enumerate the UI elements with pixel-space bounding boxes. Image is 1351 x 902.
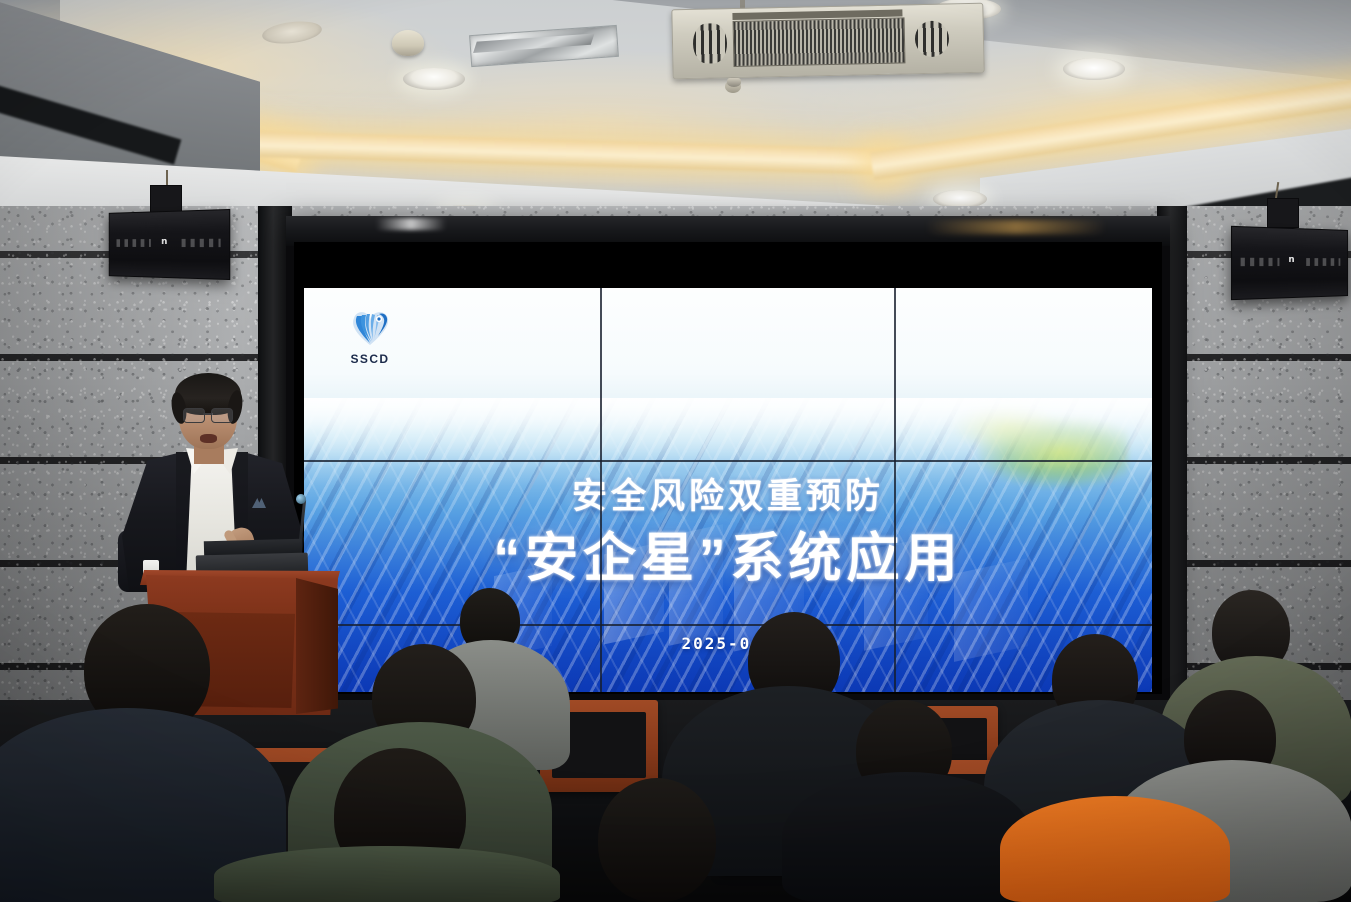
- podium-side-panel: [296, 578, 338, 714]
- audience-safety-vest: [1000, 796, 1230, 902]
- sprinkler-icon: [727, 78, 741, 87]
- audience-body: [214, 846, 560, 902]
- presentation-slide: SSCD 安全风险双重预防 “安企星”系统应用 2025-04-: [304, 288, 1152, 692]
- slide-white-header: [304, 288, 1152, 410]
- ceiling-cassette-ac-icon: [671, 3, 984, 80]
- audience-body: [782, 772, 1032, 902]
- smoke-detector-icon: [392, 30, 424, 56]
- speaker-brand-logo: n: [161, 237, 166, 247]
- speaker-grille-dots: [117, 239, 151, 247]
- photo-haze-gradient: [304, 398, 1152, 468]
- wall-speaker-left: n: [109, 209, 231, 280]
- wall-speaker-right: n: [1231, 226, 1348, 300]
- led-video-wall: SSCD 安全风险双重预防 “安企星”系统应用 2025-04-: [286, 216, 1170, 706]
- ceiling-downlight-icon: [403, 68, 465, 90]
- presenter-glasses-icon: [183, 408, 233, 422]
- presenter-mouth: [200, 434, 217, 443]
- sscd-logo: SSCD: [340, 306, 400, 366]
- speaker-brand-logo: n: [1288, 255, 1293, 265]
- video-wall-bezel: SSCD 安全风险双重预防 “安企星”系统应用 2025-04-: [294, 242, 1162, 694]
- sscd-logo-text: SSCD: [340, 352, 400, 366]
- slide-title-line2: “安企星”系统应用: [304, 516, 1152, 592]
- ac-grille: [733, 17, 906, 67]
- audience-head: [598, 778, 716, 902]
- ceiling-downlight-icon: [1063, 58, 1125, 80]
- conference-room-photo: n n: [0, 0, 1351, 902]
- speaker-bracket-right: [1267, 198, 1299, 228]
- glasses-lens-left: [183, 408, 205, 423]
- sscd-logo-mark-icon: [349, 306, 391, 346]
- ac-vane-left: [693, 23, 728, 64]
- speaker-grille-dots: [182, 239, 221, 247]
- speaker-grille-dots: [1241, 257, 1280, 265]
- ac-vane-right: [915, 20, 950, 57]
- glasses-lens-right: [211, 408, 233, 423]
- speaker-grille-dots: [1306, 258, 1340, 266]
- slide-title-line1: 安全风险双重预防: [304, 468, 1152, 519]
- microphone-icon: [296, 494, 306, 504]
- ceiling: [0, 0, 1351, 230]
